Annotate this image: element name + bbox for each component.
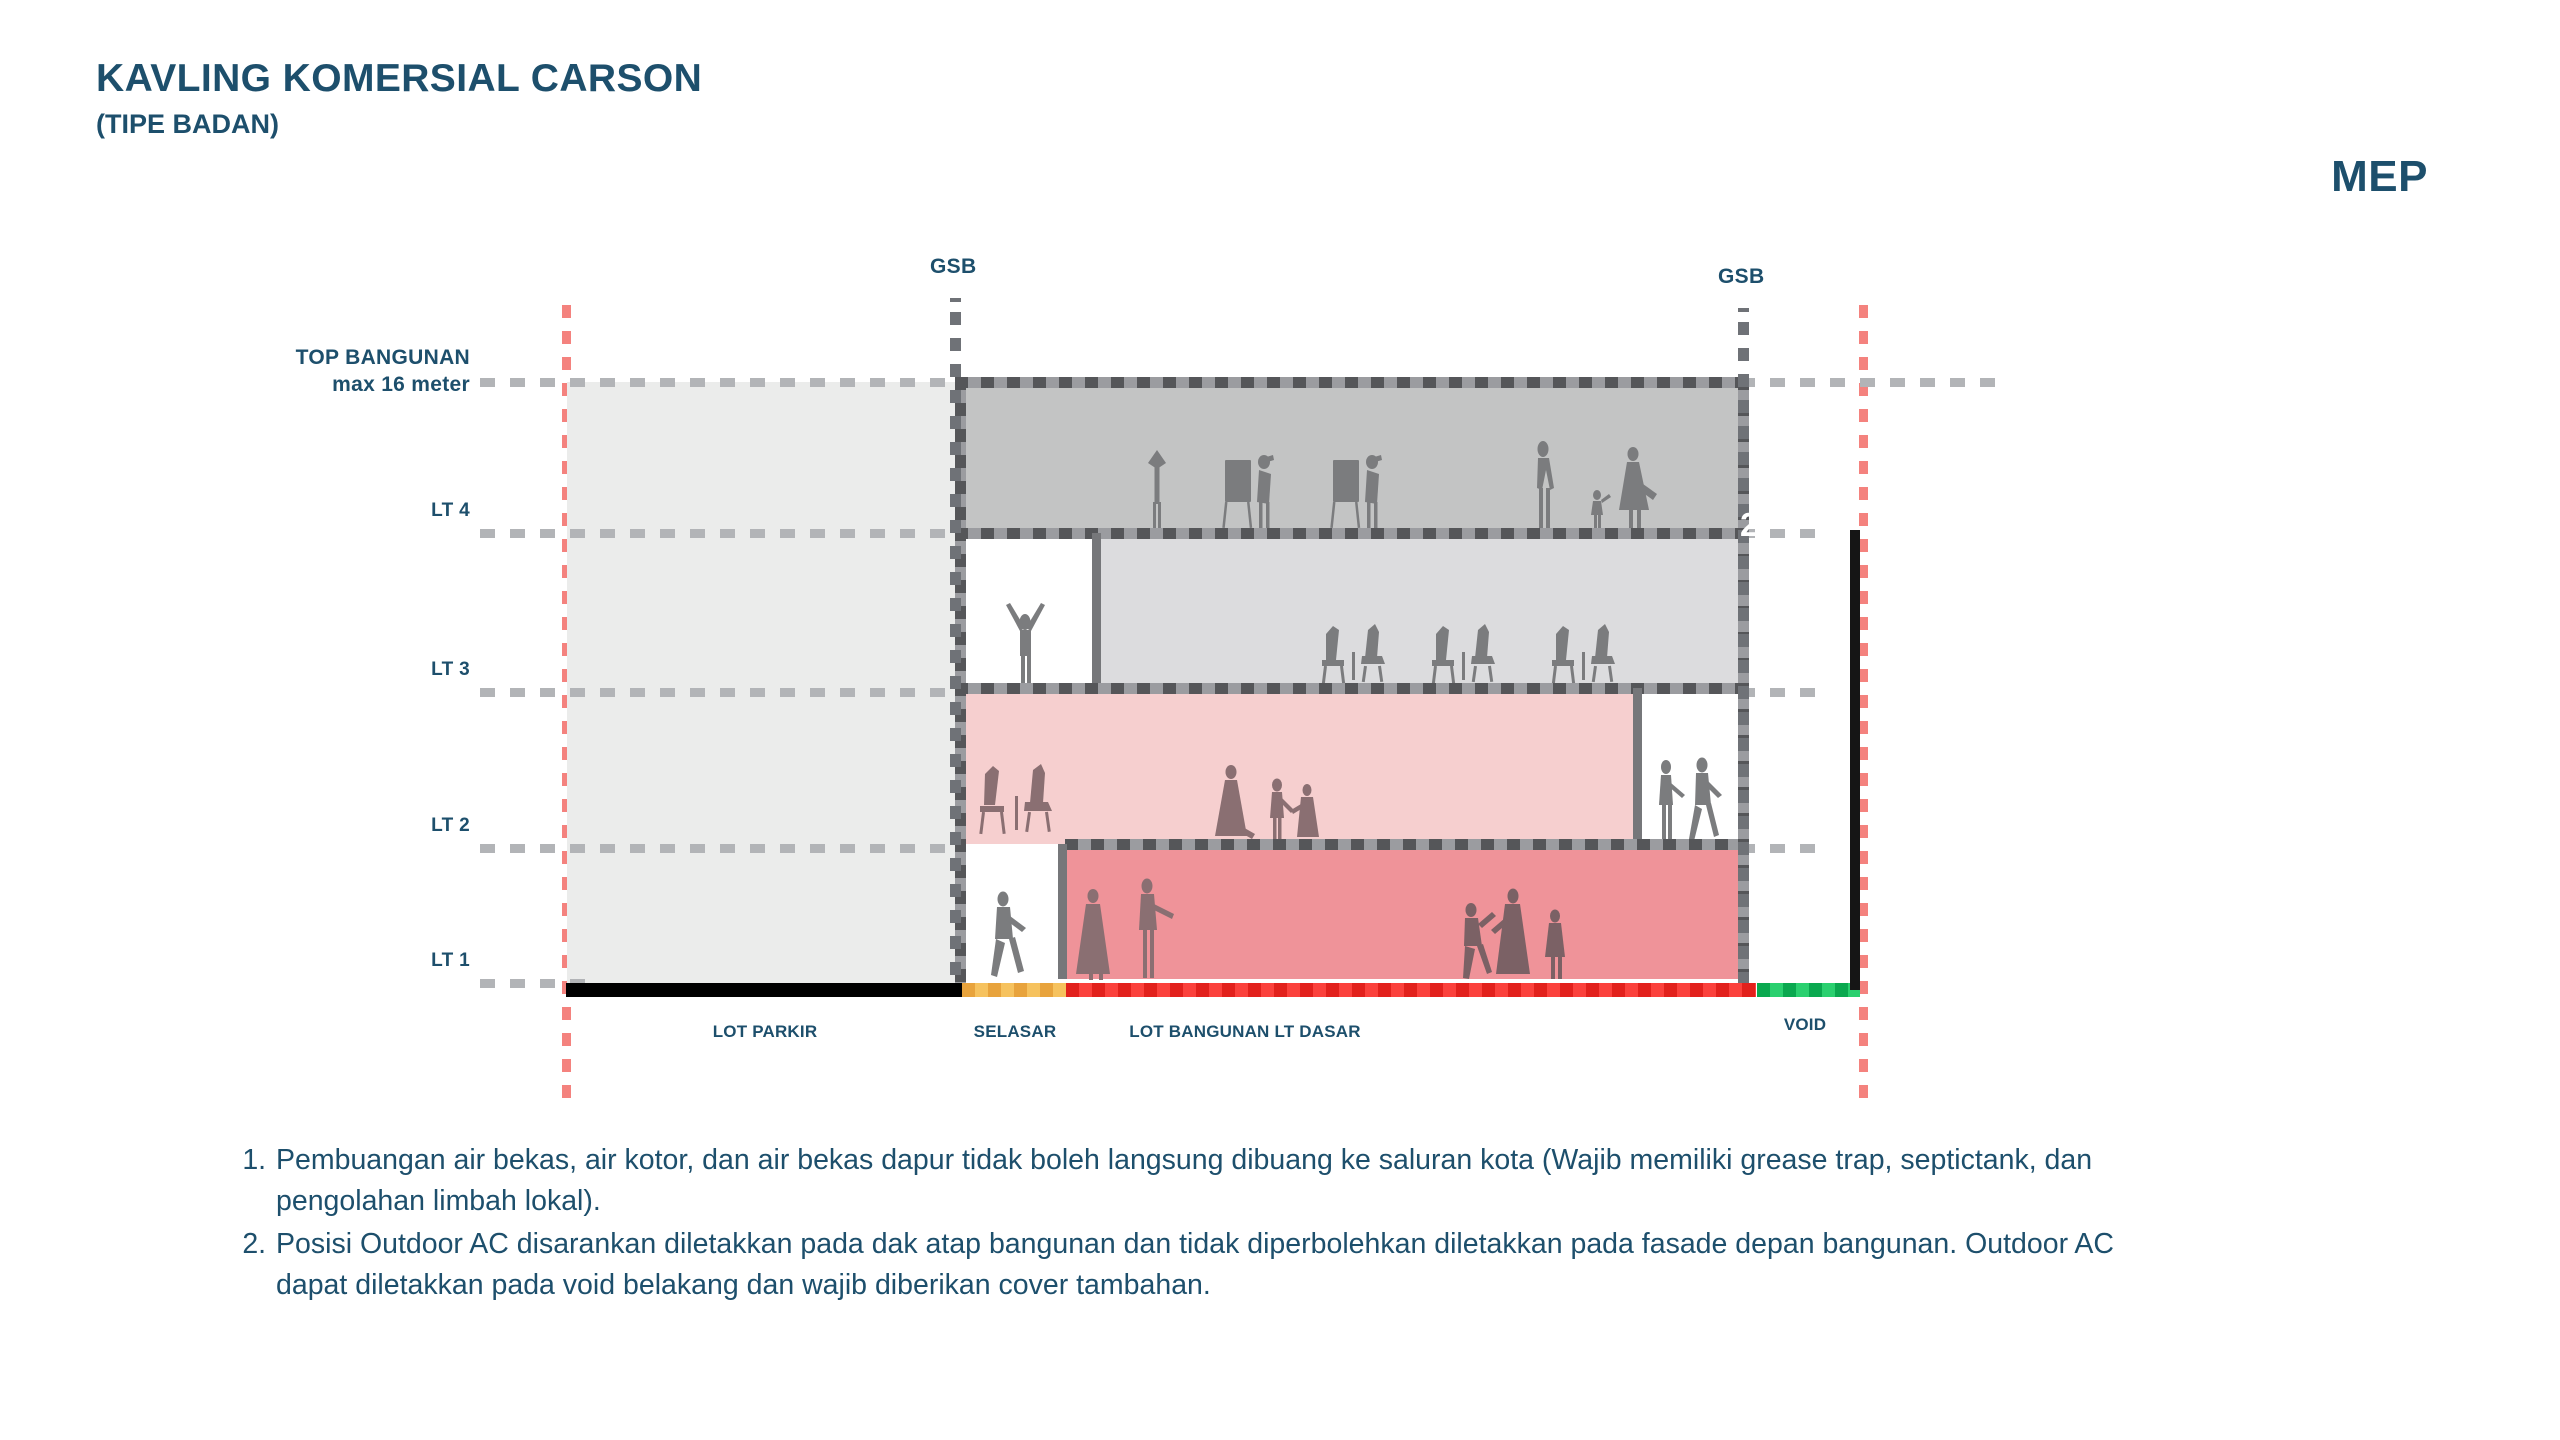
level-label-lt4: LT 4 xyxy=(300,500,470,522)
people-group-lt2-center xyxy=(1215,760,1340,845)
baseline-lot-parkir xyxy=(566,983,962,997)
edge-lt3-bottom xyxy=(955,683,1749,694)
void-rear-wall xyxy=(1850,530,1860,990)
building-section-diagram: TOP BANGUNAN max 16 meter LT 4 LT 3 LT 2… xyxy=(0,0,2560,1120)
floor-count-marker: 2 xyxy=(1740,508,1758,541)
level-label-lt1: LT 1 xyxy=(300,950,470,972)
people-lt3-left-bay xyxy=(1000,600,1050,685)
baseline-void xyxy=(1757,983,1860,997)
edge-lt4-bottom xyxy=(955,528,1749,539)
people-group-lt1-right xyxy=(1455,888,1575,980)
wall-lt3-interior xyxy=(1092,533,1101,688)
baseline-lot-bangunan xyxy=(1066,983,1756,997)
people-group-lt4 xyxy=(1145,440,1685,530)
note-item: Posisi Outdoor AC disarankan diletakkan … xyxy=(274,1224,2140,1306)
gsb-left-line xyxy=(950,312,961,984)
edge-lt2-bottom xyxy=(1065,839,1749,850)
people-group-lt2-right-bay xyxy=(1650,755,1730,845)
level-label-lt2: LT 2 xyxy=(300,815,470,837)
zone-label-lot-bangunan: LOT BANGUNAN LT DASAR xyxy=(1035,1022,1455,1042)
people-group-lt2-seated xyxy=(975,762,1085,842)
gsb-left-cap xyxy=(950,298,961,302)
gsb-right-cap xyxy=(1738,308,1749,312)
level-label-top: TOP BANGUNAN max 16 meter xyxy=(240,345,470,399)
gsb-right-line xyxy=(1738,322,1749,984)
wall-lt1-interior xyxy=(1058,844,1067,979)
baseline-selasar xyxy=(962,983,1066,997)
people-group-lt1-left xyxy=(1075,878,1195,980)
level-label-top-line2: max 16 meter xyxy=(240,372,470,399)
note-item: Pembuangan air bekas, air kotor, dan air… xyxy=(274,1140,2140,1222)
people-lt1-selasar xyxy=(985,888,1040,980)
people-group-lt3-seated xyxy=(1320,620,1650,688)
gsb-right-label: GSB xyxy=(1718,265,1764,289)
notes-block: Pembuangan air bekas, air kotor, dan air… xyxy=(240,1140,2140,1308)
level-label-top-line1: TOP BANGUNAN xyxy=(240,345,470,372)
edge-lt4-top xyxy=(955,377,1749,388)
zone-label-void: VOID xyxy=(1745,1015,1865,1035)
zone-label-lot-parkir: LOT PARKIR xyxy=(645,1022,885,1042)
gsb-left-label: GSB xyxy=(930,255,976,279)
slide-canvas: KAVLING KOMERSIAL CARSON (TIPE BADAN) ME… xyxy=(0,0,2560,1440)
property-boundary-right xyxy=(1859,305,1868,1110)
parking-lot-fill xyxy=(567,382,959,983)
level-label-lt3: LT 3 xyxy=(300,659,470,681)
wall-lt2-interior xyxy=(1633,688,1642,844)
